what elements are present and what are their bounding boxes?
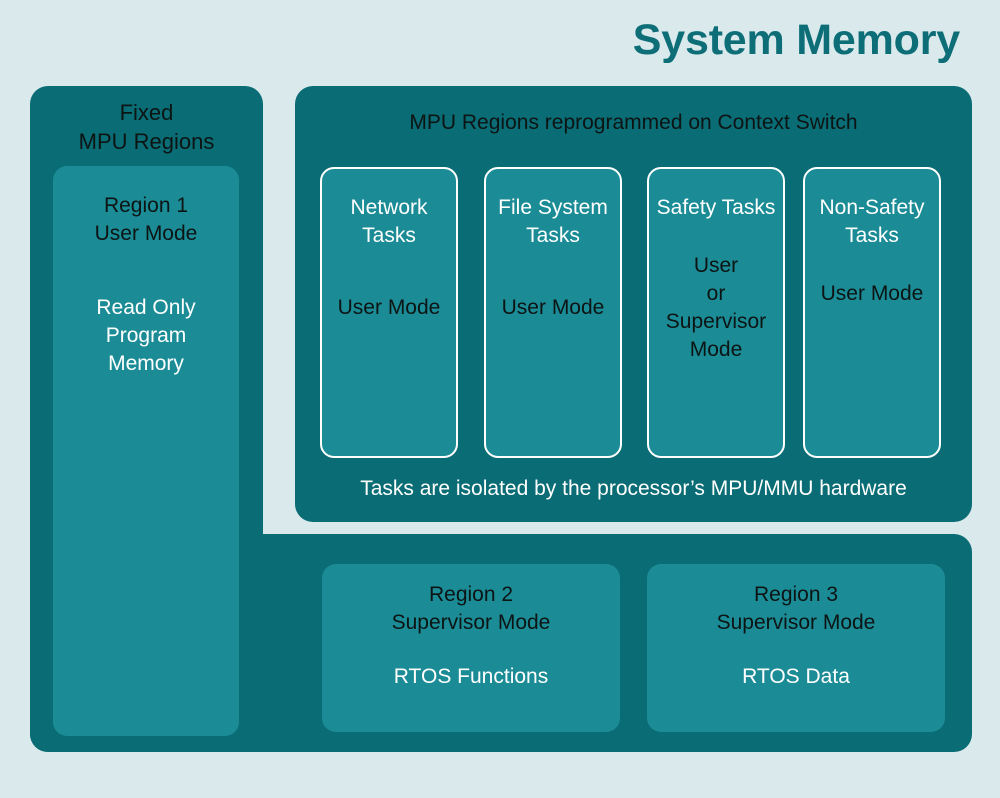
region-1-box[interactable]: Region 1 User Mode Read Only Program Mem… — [53, 166, 239, 736]
region-2-box[interactable]: Region 2 Supervisor Mode RTOS Functions — [322, 564, 620, 732]
task-box-file-system-name: File System Tasks — [498, 194, 608, 250]
task-box-network[interactable]: Network Tasks User Mode — [320, 167, 458, 458]
region-1-subtitle: Read Only Program Memory — [96, 294, 195, 378]
task-box-file-system[interactable]: File System Tasks User Mode — [484, 167, 622, 458]
task-box-non-safety-mode: User Mode — [821, 280, 924, 308]
fixed-mpu-regions-heading: Fixed MPU Regions — [30, 98, 263, 156]
region-3-title: Region 3 Supervisor Mode — [717, 581, 876, 637]
task-box-network-mode: User Mode — [338, 294, 441, 322]
task-box-non-safety[interactable]: Non-Safety Tasks User Mode — [803, 167, 941, 458]
task-box-network-name: Network Tasks — [350, 194, 427, 250]
region-2-subtitle: RTOS Functions — [394, 663, 548, 691]
mpu-context-switch-heading: MPU Regions reprogrammed on Context Swit… — [295, 108, 972, 137]
task-box-safety-name: Safety Tasks — [657, 194, 776, 222]
task-box-non-safety-name: Non-Safety Tasks — [819, 194, 924, 250]
region-3-box[interactable]: Region 3 Supervisor Mode RTOS Data — [647, 564, 945, 732]
page-title: System Memory — [633, 16, 960, 65]
task-box-safety-mode: User or Supervisor Mode — [666, 252, 766, 364]
diagram-canvas: System Memory Fixed MPU Regions MPU Regi… — [0, 0, 1000, 798]
mpu-isolation-caption: Tasks are isolated by the processor’s MP… — [295, 477, 972, 501]
region-2-title: Region 2 Supervisor Mode — [392, 581, 551, 637]
task-box-file-system-mode: User Mode — [502, 294, 605, 322]
task-box-safety[interactable]: Safety Tasks User or Supervisor Mode — [647, 167, 785, 458]
region-1-title: Region 1 User Mode — [95, 192, 198, 248]
region-3-subtitle: RTOS Data — [742, 663, 850, 691]
